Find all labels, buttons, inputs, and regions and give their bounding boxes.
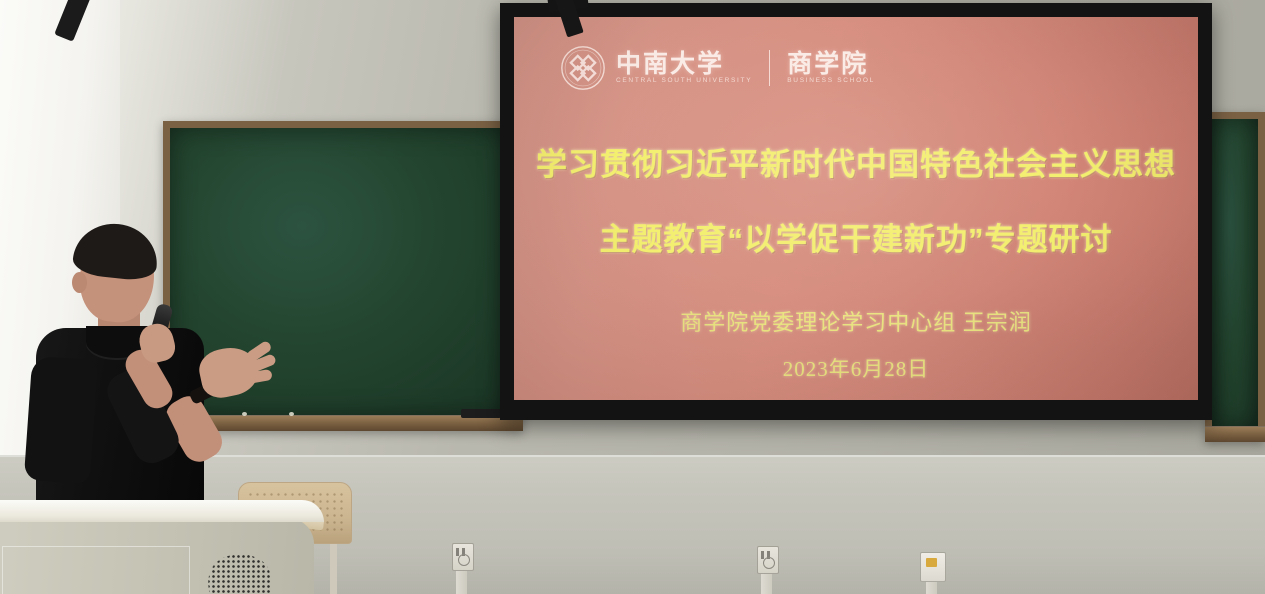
wall-data-port[interactable] bbox=[920, 552, 946, 582]
speaker-ear bbox=[72, 272, 87, 293]
wall-outlet-left[interactable] bbox=[452, 543, 474, 571]
lectern-worktop bbox=[0, 500, 324, 522]
blackboard-surface bbox=[1212, 119, 1258, 428]
chalk-eraser bbox=[461, 409, 501, 418]
outlet-round-port bbox=[763, 557, 775, 569]
lecture-room-photo: 中南大学 CENTRAL SOUTH UNIVERSITY 商学院 BUSINE… bbox=[0, 0, 1265, 594]
outlet-round-port bbox=[458, 554, 470, 566]
chair-leg bbox=[330, 542, 337, 594]
data-port-indicator bbox=[926, 558, 937, 567]
lectern-podium bbox=[0, 500, 324, 594]
chalk-tray bbox=[1205, 426, 1265, 442]
screen-bezel bbox=[500, 3, 1212, 420]
wall-outlet-center[interactable] bbox=[757, 546, 779, 574]
speaker-left-sleeve bbox=[24, 356, 98, 484]
lectern-perforated-logo bbox=[206, 554, 274, 594]
lectern-front-panel bbox=[2, 546, 190, 594]
lectern-body bbox=[0, 518, 314, 594]
projection-screen: 中南大学 CENTRAL SOUTH UNIVERSITY 商学院 BUSINE… bbox=[500, 3, 1212, 420]
chalk-piece bbox=[289, 412, 294, 416]
blackboard-side bbox=[1205, 112, 1265, 442]
